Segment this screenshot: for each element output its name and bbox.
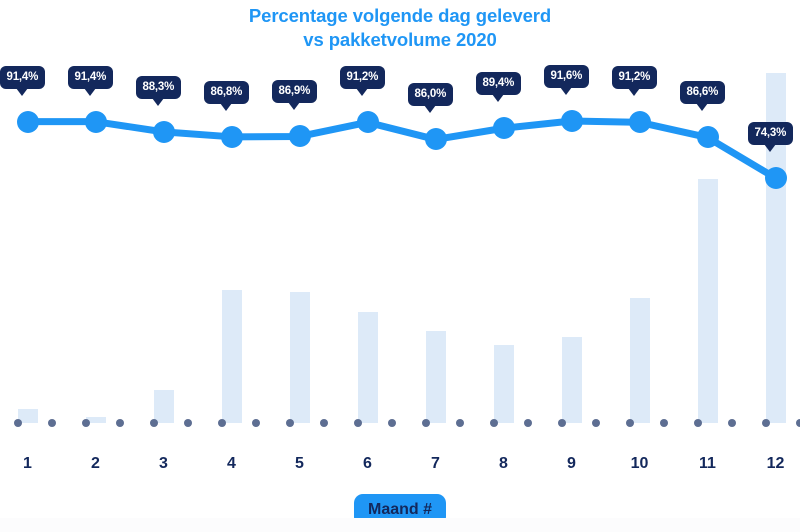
value-label: 86,9% (272, 80, 318, 103)
line-marker[interactable] (17, 111, 39, 133)
line-marker[interactable] (153, 121, 175, 143)
value-label: 86,0% (408, 83, 454, 106)
x-axis-tick-label: 9 (552, 455, 592, 473)
line-marker[interactable] (561, 110, 583, 132)
value-label: 86,6% (680, 81, 726, 104)
line-marker[interactable] (289, 125, 311, 147)
line-marker[interactable] (85, 111, 107, 133)
x-axis-tick-label: 10 (620, 455, 660, 473)
x-axis-tick-label: 7 (416, 455, 456, 473)
line-marker[interactable] (697, 126, 719, 148)
x-axis-tick-label: 3 (144, 455, 184, 473)
line-marker[interactable] (493, 117, 515, 139)
x-axis-tick-label: 6 (348, 455, 388, 473)
value-label: 89,4% (476, 72, 522, 95)
x-axis-tick-label: 11 (688, 455, 728, 473)
x-axis-tick-label: 4 (212, 455, 252, 473)
chart-container: Percentage volgende dag geleverd vs pakk… (0, 0, 800, 532)
value-label: 91,2% (340, 66, 386, 89)
value-label: 91,4% (0, 66, 45, 89)
x-axis-tick-label: 8 (484, 455, 524, 473)
line-series-svg (0, 0, 800, 440)
value-label: 86,8% (204, 81, 250, 104)
line-marker[interactable] (765, 167, 787, 189)
line-marker[interactable] (357, 111, 379, 133)
value-label: 91,6% (544, 65, 590, 88)
x-axis-tick-label: 2 (76, 455, 116, 473)
value-label: 88,3% (136, 76, 182, 99)
x-axis-tick-label: 12 (756, 455, 796, 473)
x-axis-tick-label: 5 (280, 455, 320, 473)
line-marker[interactable] (425, 128, 447, 150)
line-marker[interactable] (221, 126, 243, 148)
line-marker[interactable] (629, 111, 651, 133)
line-path (28, 121, 776, 178)
x-axis-tick-label: 1 (8, 455, 48, 473)
bottom-band (0, 518, 800, 532)
plot-area: 91,4%91,4%88,3%86,8%86,9%91,2%86,0%89,4%… (0, 0, 800, 440)
value-label: 74,3% (748, 122, 794, 145)
value-label: 91,2% (612, 66, 658, 89)
value-label: 91,4% (68, 66, 114, 89)
